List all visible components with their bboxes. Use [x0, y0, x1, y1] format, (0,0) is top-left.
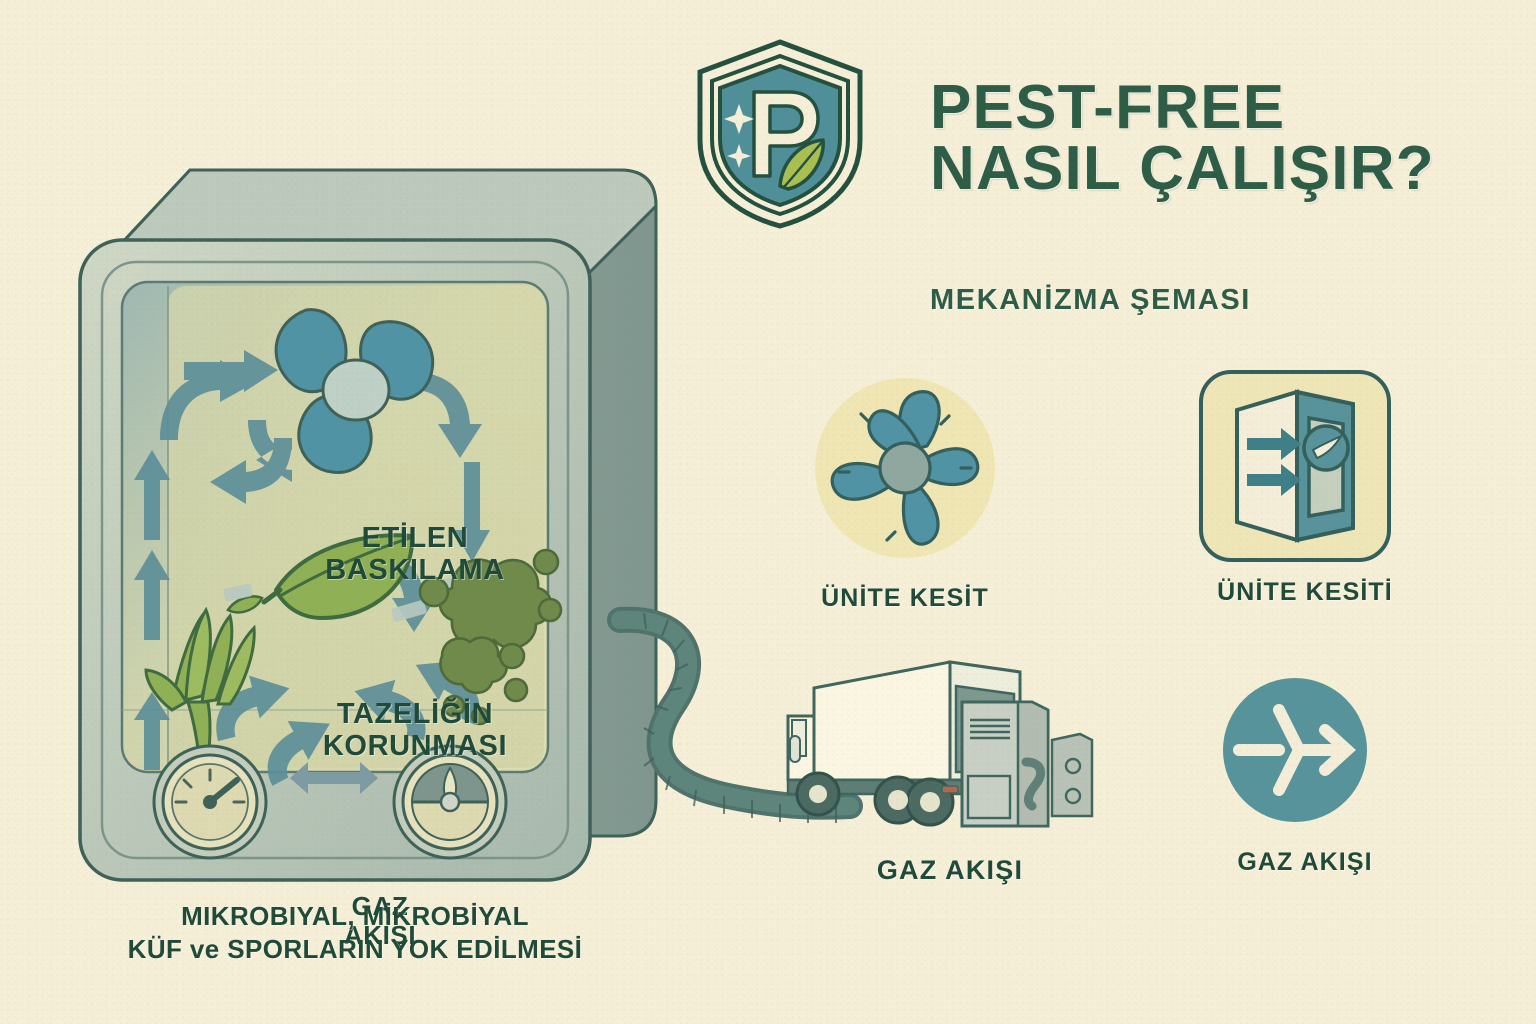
title-line-1: PEST-FREE: [930, 78, 1510, 139]
shield-logo: [692, 36, 868, 232]
title-line-2: NASIL ÇALIŞIR?: [930, 139, 1510, 200]
page-title: PEST-FREE NASIL ÇALIŞIR?: [930, 78, 1510, 200]
refrigerated-truck-illustration: [770, 640, 1130, 890]
label-freshness-preservation: TAZELİĞİN KORUNMASI: [265, 698, 565, 763]
caption-line-2: KÜF ve SPORLARIN YOK EDİLMESİ: [85, 933, 625, 966]
gas-flow-arrow-icon: [1195, 672, 1395, 842]
chamber-cutaway-icon: [1185, 362, 1405, 572]
icon-label-chamber: ÜNİTE KESİTİ: [1185, 578, 1425, 607]
icon-card-fan[interactable]: ÜNİTE KESİT: [795, 368, 1015, 613]
gas-unit-illustration: ETİLEN BASKILAMA TAZELİĞİN KORUNMASI GAZ…: [60, 110, 660, 900]
unit-bottom-caption: MIKROBIYAL, MİKROBİYAL KÜF ve SPORLARIN …: [85, 900, 625, 965]
fan-icon: [795, 368, 1015, 578]
icon-label-fan: ÜNİTE KESİT: [795, 584, 1015, 613]
gauge-left: [154, 746, 266, 858]
caption-line-1: MIKROBIYAL, MİKROBİYAL: [85, 900, 625, 933]
page-subtitle: MEKANİZMA ŞEMASI: [930, 284, 1530, 317]
label-ethylene-suppression: ETİLEN BASKILAMA: [275, 522, 555, 587]
truck-caption: GAZ AKIŞI: [770, 855, 1130, 886]
icon-label-flow: GAZ AKIŞI: [1195, 848, 1415, 877]
infographic-canvas: PEST-FREE NASIL ÇALIŞIR? MEKANİZMA ŞEMAS…: [0, 0, 1536, 1024]
icon-card-chamber[interactable]: ÜNİTE KESİTİ: [1185, 362, 1425, 607]
icon-card-flow[interactable]: GAZ AKIŞI: [1195, 672, 1415, 877]
